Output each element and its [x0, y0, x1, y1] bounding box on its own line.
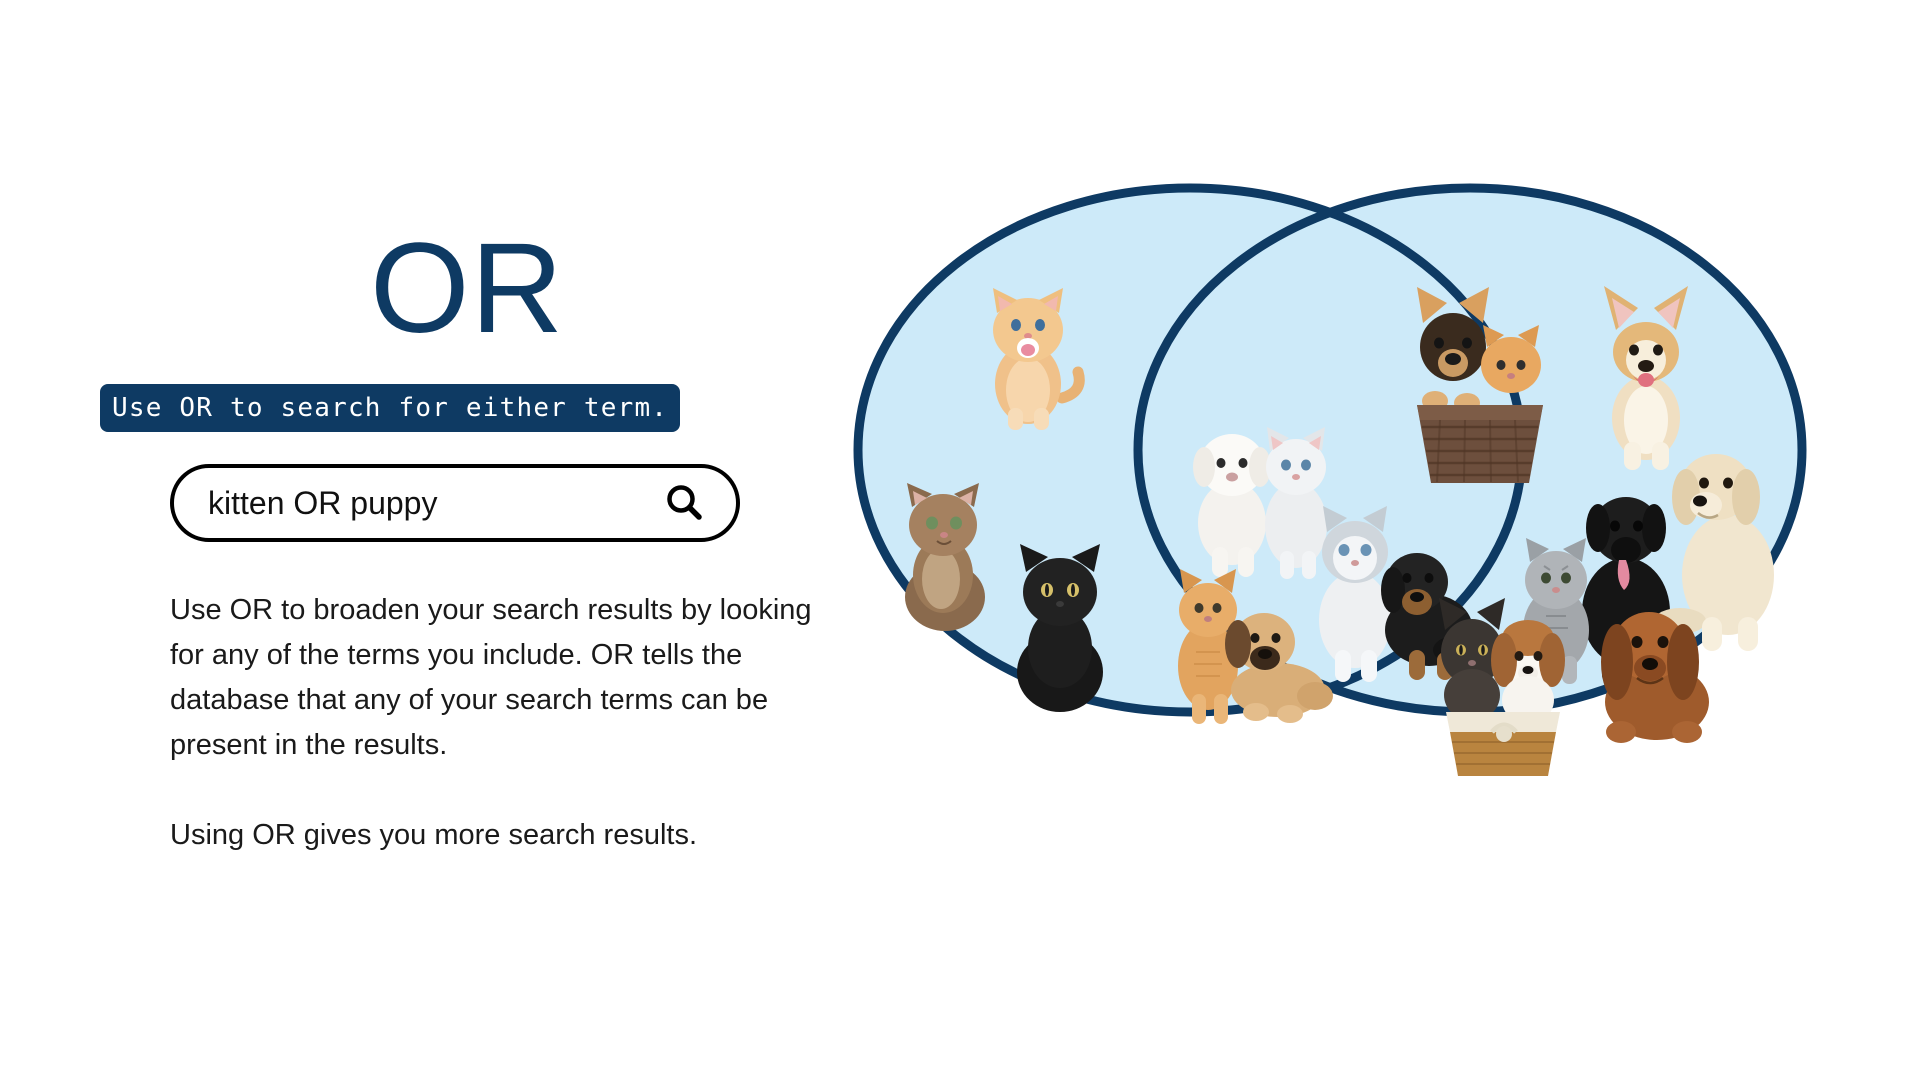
- venn-item-dachshund-puppy-lying: [1575, 580, 1730, 745]
- description-block: Use OR to broaden your search results by…: [170, 588, 850, 858]
- venn-item-shepherd-puppy-and-ginger-kitten-in-basket: [1395, 275, 1565, 490]
- tip-banner: Use OR to search for either term.: [100, 384, 680, 432]
- description-paragraph-1: Use OR to broaden your search results by…: [170, 588, 850, 768]
- venn-diagram: [850, 180, 1810, 720]
- venn-item-ginger-kitten-and-tan-puppy-pair: [1160, 560, 1335, 730]
- search-input[interactable]: kitten OR puppy: [208, 485, 662, 522]
- venn-item-orange-tabby-kitten-meowing: [970, 280, 1090, 430]
- description-paragraph-2: Using OR gives you more search results.: [170, 813, 850, 858]
- page-title: OR: [370, 225, 564, 353]
- tip-banner-text: Use OR to search for either term.: [112, 393, 668, 423]
- left-content-panel: OR Use OR to search for either term. kit…: [0, 0, 880, 1080]
- venn-item-dark-kitten-and-beagle-puppy-in-basket: [1420, 580, 1580, 780]
- venn-item-black-kitten-sitting: [998, 540, 1123, 715]
- venn-contents: [850, 180, 1810, 720]
- search-icon[interactable]: [662, 481, 706, 525]
- venn-item-brown-tabby-kitten-sitting: [885, 475, 1005, 635]
- search-box[interactable]: kitten OR puppy: [170, 464, 740, 542]
